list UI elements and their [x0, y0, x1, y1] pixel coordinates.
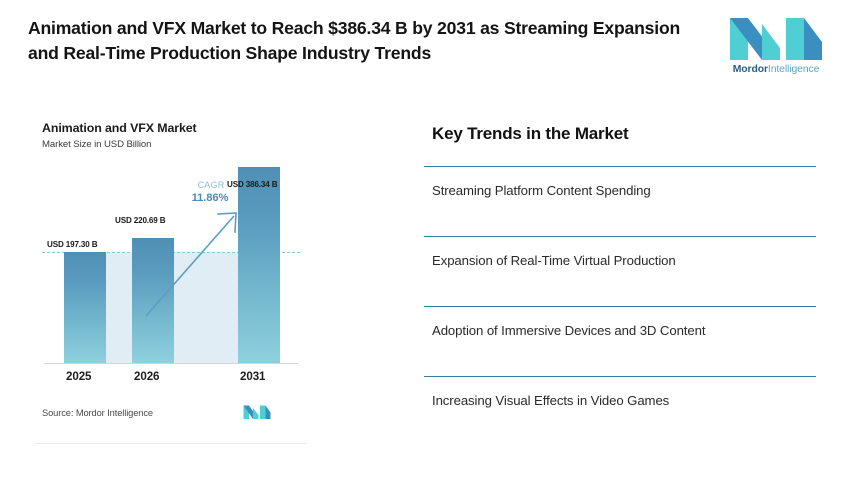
logo-word-intelligence: Intelligence: [768, 64, 819, 75]
cagr-growth-arrow: [142, 190, 252, 320]
chart-source: Source: Mordor Intelligence: [42, 408, 153, 418]
bar-chart-plot: USD 197.30 B USD 220.69 B USD 386.34 B C…: [42, 168, 300, 400]
x-label-2031: 2031: [240, 370, 265, 383]
mordor-intelligence-logo: MordorIntelligence: [722, 14, 830, 86]
list-item[interactable]: Streaming Platform Content Spending: [424, 166, 816, 236]
infographic-page: Animation and VFX Market to Reach $386.3…: [0, 0, 860, 491]
x-axis-labels: 2025 2026 2031: [42, 370, 300, 388]
list-item[interactable]: Increasing Visual Effects in Video Games: [424, 376, 816, 446]
list-item[interactable]: Expansion of Real-Time Virtual Productio…: [424, 236, 816, 306]
x-axis-line: [44, 363, 298, 364]
trend-label: Streaming Platform Content Spending: [432, 183, 651, 198]
trend-label: Increasing Visual Effects in Video Games: [432, 393, 669, 408]
list-item[interactable]: Adoption of Immersive Devices and 3D Con…: [424, 306, 816, 376]
trend-label: Adoption of Immersive Devices and 3D Con…: [432, 323, 705, 338]
key-trends-list: Streaming Platform Content Spending Expa…: [424, 166, 816, 446]
chart-title: Animation and VFX Market: [42, 121, 197, 135]
cagr-value: 11.86%: [178, 192, 242, 204]
chart-subtitle: Market Size in USD Billion: [42, 139, 151, 150]
x-label-2025: 2025: [66, 370, 91, 383]
page-title: Animation and VFX Market to Reach $386.3…: [28, 16, 703, 66]
mordor-logo-text: MordorIntelligence: [722, 64, 830, 75]
bar-value-label-2025: USD 197.30 B: [47, 240, 97, 249]
page-header: Animation and VFX Market to Reach $386.3…: [0, 0, 860, 96]
mordor-logo-mark: [728, 14, 824, 62]
source-mordor-logo-icon: [243, 404, 271, 420]
chart-card: Animation and VFX Market Market Size in …: [35, 108, 307, 444]
key-trends-title: Key Trends in the Market: [432, 124, 628, 144]
key-trends-panel: Key Trends in the Market Streaming Platf…: [424, 112, 816, 442]
bar-2025: [64, 252, 106, 363]
cagr-label: CAGR: [181, 180, 241, 190]
trend-label: Expansion of Real-Time Virtual Productio…: [432, 253, 676, 268]
x-label-2026: 2026: [134, 370, 159, 383]
logo-word-mordor: Mordor: [733, 64, 768, 75]
